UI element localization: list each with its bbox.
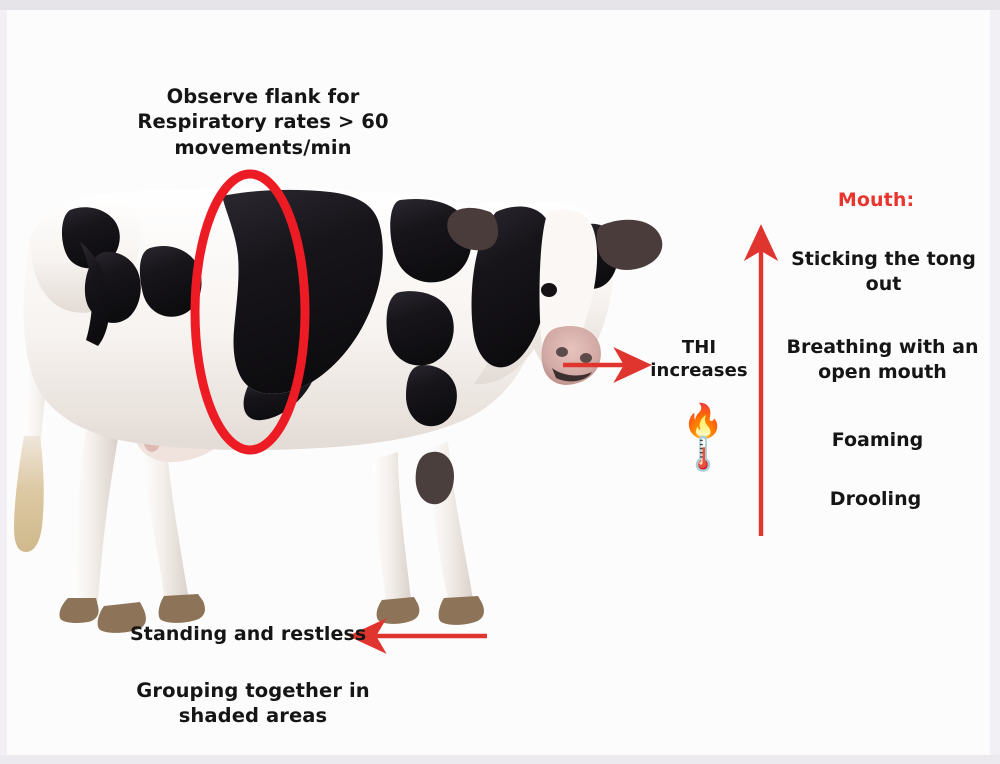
cow-front-leg-far <box>372 452 412 610</box>
infographic-page: Observe flank for Respiratory rates > 60… <box>0 0 1000 764</box>
thi-note-line-1: THI <box>643 336 755 359</box>
standing-restless-note: Standing and restless <box>130 622 370 647</box>
cow-eye <box>541 283 557 297</box>
mouth-sign-drooling: Drooling <box>798 487 953 512</box>
cow-body-group <box>14 189 662 633</box>
grouping-shade-note: Grouping together in shaded areas <box>128 678 378 729</box>
fire-thermometer-icon: 🔥🌡️ <box>668 404 738 470</box>
cow-hind-leg-near <box>140 436 190 608</box>
mouth-section-heading: Mouth: <box>806 188 946 213</box>
mouth-sign-sticking-tongue: Sticking the tong out <box>776 247 991 296</box>
cow-tail-switch <box>14 436 44 552</box>
mouth-sign-open-mouth-breathing: Breathing with an open mouth <box>770 335 995 384</box>
flank-note-line-3: movements/min <box>118 135 408 160</box>
mouth-sign-foaming: Foaming <box>800 428 955 453</box>
flank-note-line-2: Respiratory rates > 60 <box>118 109 408 134</box>
cow-nostril-right <box>580 353 592 363</box>
grouping-note-line-2: shaded areas <box>128 703 378 728</box>
thi-increases-note: THI increases <box>643 336 755 383</box>
grouping-note-line-1: Grouping together in <box>128 678 378 703</box>
cow-nostril-left <box>556 347 568 357</box>
flank-observation-note: Observe flank for Respiratory rates > 60… <box>118 84 408 160</box>
thi-note-line-2: increases <box>643 359 755 382</box>
cow-foreleg-marking <box>416 452 454 504</box>
cow-ear-right <box>597 220 663 270</box>
flank-note-line-1: Observe flank for <box>118 84 408 109</box>
cow-hind-leg-far <box>72 430 118 614</box>
